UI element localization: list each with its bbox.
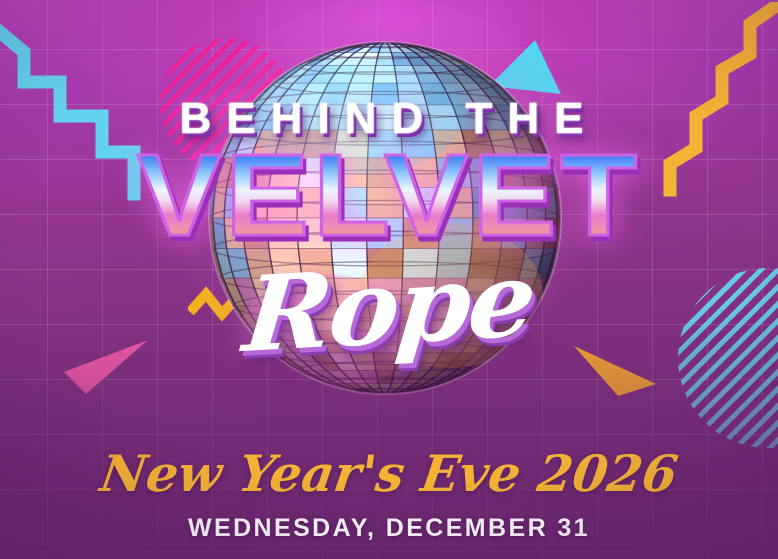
- disco-ball: [205, 38, 565, 398]
- event-date-title: New Year's Eve 2026: [97, 444, 682, 503]
- event-date-subtitle: WEDNESDAY, DECEMBER 31: [0, 514, 778, 543]
- striped-circle-cyan-icon: [678, 268, 778, 448]
- event-poster: BEHIND THE VELVET Rope New Year's Eve 20…: [0, 0, 778, 559]
- triangle-gold-icon: [570, 340, 670, 402]
- zigzag-gold-top-icon: [662, 2, 778, 202]
- event-date-title-wrap: New Year's Eve 2026: [0, 444, 778, 503]
- disco-ball-graphic: [205, 38, 565, 398]
- triangle-pink-icon: [60, 336, 152, 398]
- date-block: New Year's Eve 2026 WEDNESDAY, DECEMBER …: [0, 444, 778, 543]
